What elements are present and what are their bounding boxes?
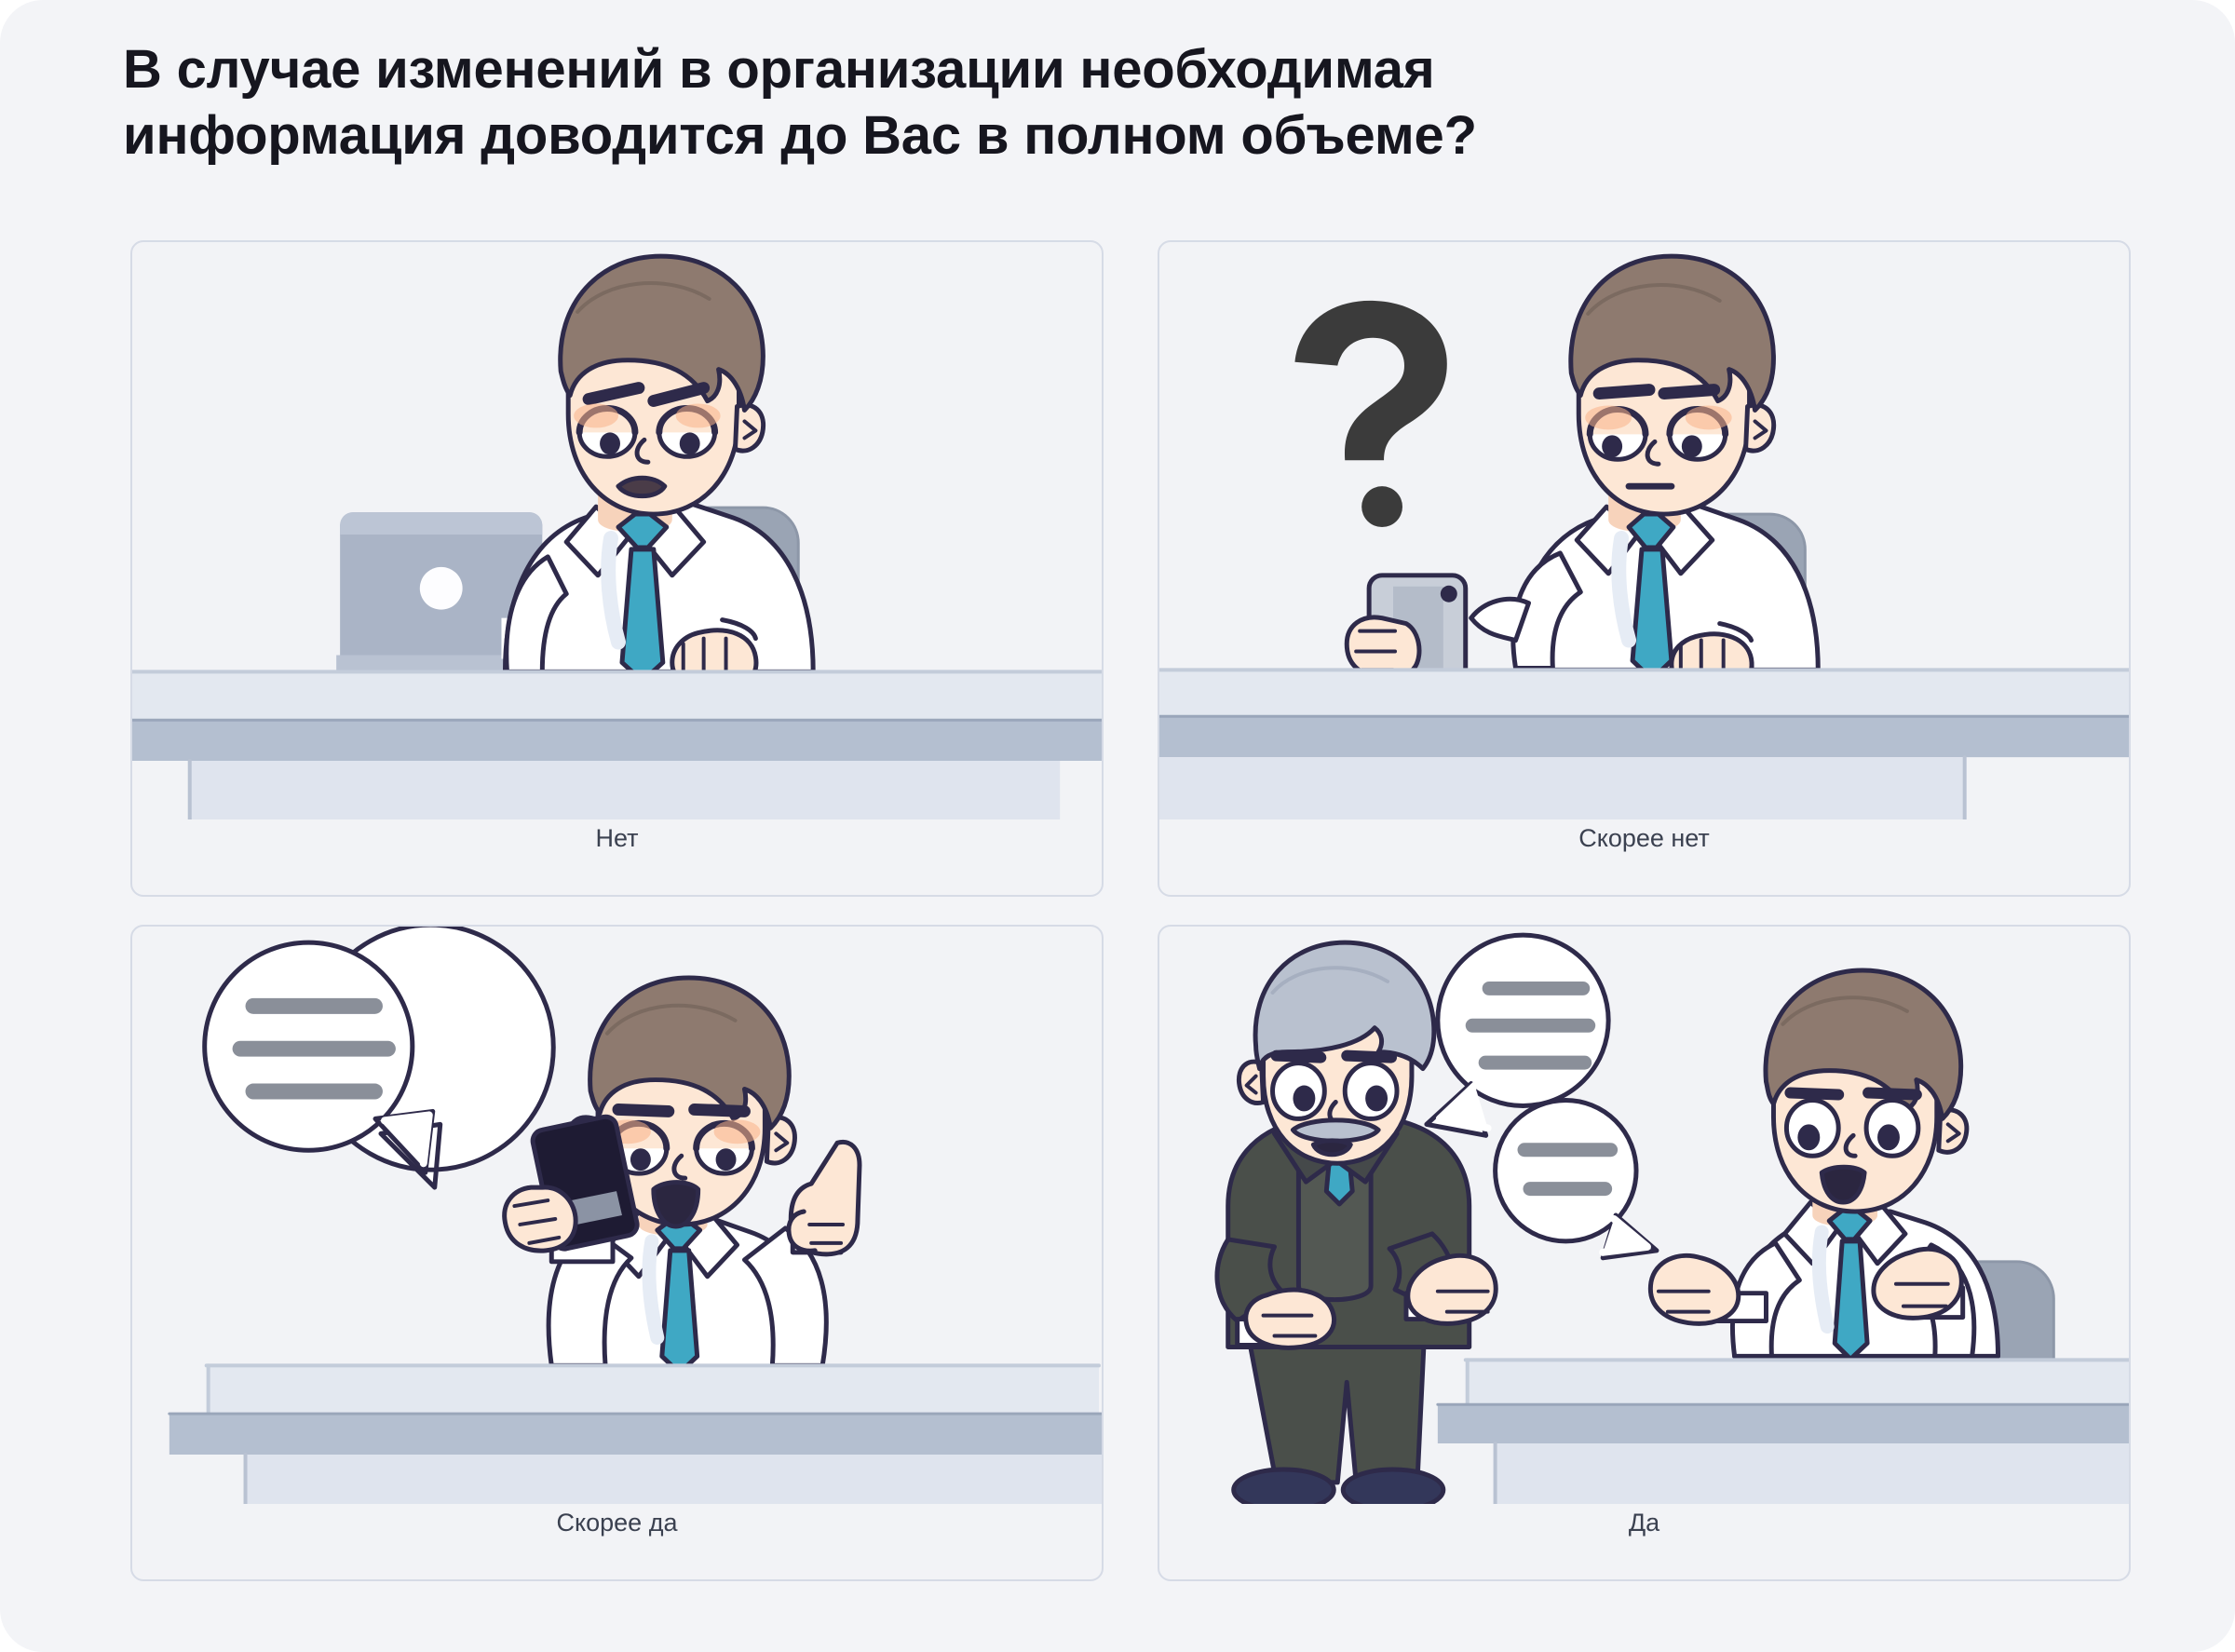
answer-card-no[interactable]: Нет [130, 240, 1104, 897]
answer-card-rather-no[interactable]: Скорее нет [1158, 240, 2131, 897]
survey-question-page: В случае изменений в организации необход… [0, 0, 2235, 1652]
speech-bubble-icon [1496, 1100, 1657, 1257]
answer-options-grid: Нет [130, 240, 2131, 1581]
answer-card-rather-yes[interactable]: Скорее да [130, 925, 1104, 1581]
illustration-manager-and-worker-dialogue [1159, 927, 2129, 1504]
speech-bubble-icon [205, 927, 554, 1187]
illustration-worker-talking-on-phone [132, 927, 1102, 1504]
page-title: В случае изменений в организации необход… [123, 37, 1827, 169]
illustration-worker-tired-at-laptop [132, 242, 1102, 819]
answer-label: Скорее нет [1159, 824, 2129, 853]
illustration-worker-confused-with-phone [1159, 242, 2129, 819]
question-mark-icon [1294, 301, 1446, 527]
answer-label: Нет [132, 824, 1102, 853]
answer-label: Да [1159, 1509, 2129, 1537]
answer-label: Скорее да [132, 1509, 1102, 1537]
answer-card-yes[interactable]: Да [1158, 925, 2131, 1581]
